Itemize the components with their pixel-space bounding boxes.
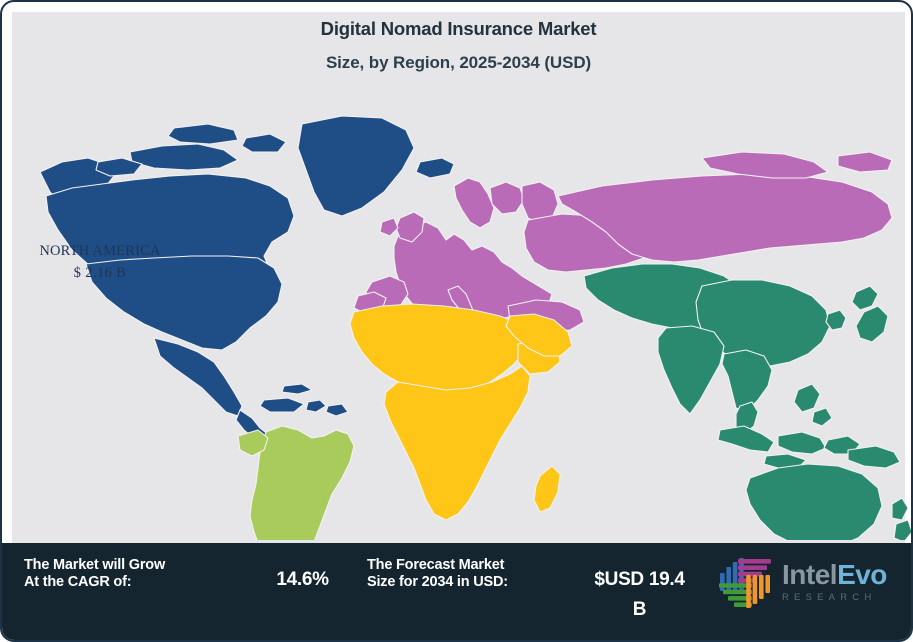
- region-south-america: [238, 426, 354, 540]
- world-map-svg: [2, 100, 913, 540]
- cagr-label: The Market will Grow At the CAGR of:: [24, 557, 224, 591]
- world-map[interactable]: [2, 100, 913, 540]
- cagr-label-line2: At the CAGR of:: [24, 574, 224, 591]
- region-middle-east-africa: [350, 304, 572, 520]
- forecast-size-value-line1: $USD 19.4: [567, 565, 712, 595]
- cagr-value-text: 14.6%: [230, 565, 375, 595]
- forecast-size-value-line2: B: [567, 595, 712, 625]
- cagr-value: 14.6%: [230, 565, 375, 595]
- infographic-frame: Digital Nomad Insurance Market Size, by …: [0, 0, 913, 642]
- page-title: Digital Nomad Insurance Market: [12, 16, 905, 42]
- forecast-size-value: $USD 19.4 B: [567, 565, 712, 625]
- map-canvas: Digital Nomad Insurance Market Size, by …: [12, 12, 905, 547]
- forecast-size-label: The Forecast Market Size for 2034 in USD…: [367, 557, 582, 591]
- cagr-label-line1: The Market will Grow: [24, 557, 224, 574]
- logo-wordmark: IntelEvo: [782, 561, 887, 589]
- logo-tagline: RESEARCH: [782, 591, 887, 605]
- logo-word-evo: Evo: [837, 559, 887, 590]
- region-asia-pacific: [584, 264, 912, 540]
- pinwheel-logo-icon: [714, 553, 776, 613]
- page-subtitle: Size, by Region, 2025-2034 (USD): [12, 48, 905, 78]
- brand-logo[interactable]: IntelEvo RESEARCH: [714, 552, 904, 614]
- title-block: Digital Nomad Insurance Market Size, by …: [12, 16, 905, 78]
- logo-word-intel: Intel: [782, 559, 837, 590]
- logo-text: IntelEvo RESEARCH: [782, 561, 887, 605]
- forecast-size-label-line2: Size for 2034 in USD:: [367, 574, 582, 591]
- forecast-size-label-line1: The Forecast Market: [367, 557, 582, 574]
